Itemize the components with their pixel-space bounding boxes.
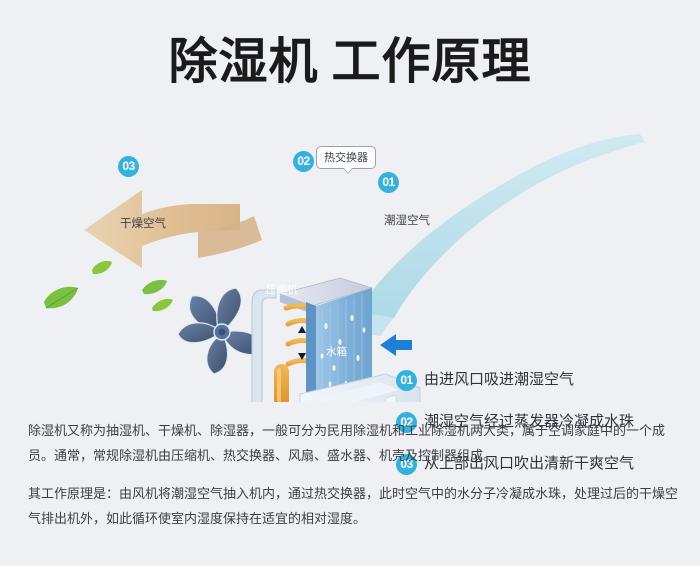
- leaf-group: [44, 261, 173, 311]
- marker-01-badge: 01: [378, 172, 399, 193]
- description-paragraph-2: 其工作原理是：由风机将潮湿空气抽入机内，通过热交换器，此时空气中的水分子冷凝成水…: [28, 481, 678, 531]
- legend-badge-01: 01: [396, 370, 417, 391]
- heat-exchanger-callout: 热交换器: [316, 146, 376, 169]
- legend-text-01: 由进风口吸进潮湿空气: [424, 368, 574, 389]
- compressor-label: 压缩机: [266, 282, 298, 297]
- infographic-page: 除湿机工作原理: [0, 0, 700, 566]
- dry-air-arrow: [84, 190, 262, 268]
- machine-shell: [252, 290, 276, 402]
- fan: [178, 288, 263, 374]
- page-title-part1: 除湿机: [168, 35, 318, 89]
- accumulator: [274, 364, 289, 402]
- marker-02-badge: 02: [293, 151, 314, 172]
- humid-air-label: 潮湿空气: [384, 212, 430, 228]
- humid-air-swoosh: [345, 134, 645, 336]
- dry-air-label: 干燥空气: [120, 215, 166, 231]
- page-title-part2: 工作原理: [332, 35, 532, 89]
- description-paragraph-1: 除湿机又称为抽湿机、干燥机、除湿器，一般可分为民用除湿机和工业除湿机两大类，属于…: [28, 418, 678, 468]
- inlet-air-arrow: [380, 334, 412, 356]
- diagram-illustration: 03 干燥空气 02 热交换器 01 潮湿空气 压缩机 水箱 01 由进风口吸进…: [0, 112, 700, 402]
- page-title: 除湿机工作原理: [0, 34, 700, 90]
- marker-03-badge: 03: [118, 156, 139, 177]
- water-tank-label: 水箱: [326, 344, 347, 359]
- legend-item-01: 01 由进风口吸进潮湿空气: [396, 367, 686, 409]
- description-block: 除湿机又称为抽湿机、干燥机、除湿器，一般可分为民用除湿机和工业除湿机两大类，属于…: [28, 418, 678, 531]
